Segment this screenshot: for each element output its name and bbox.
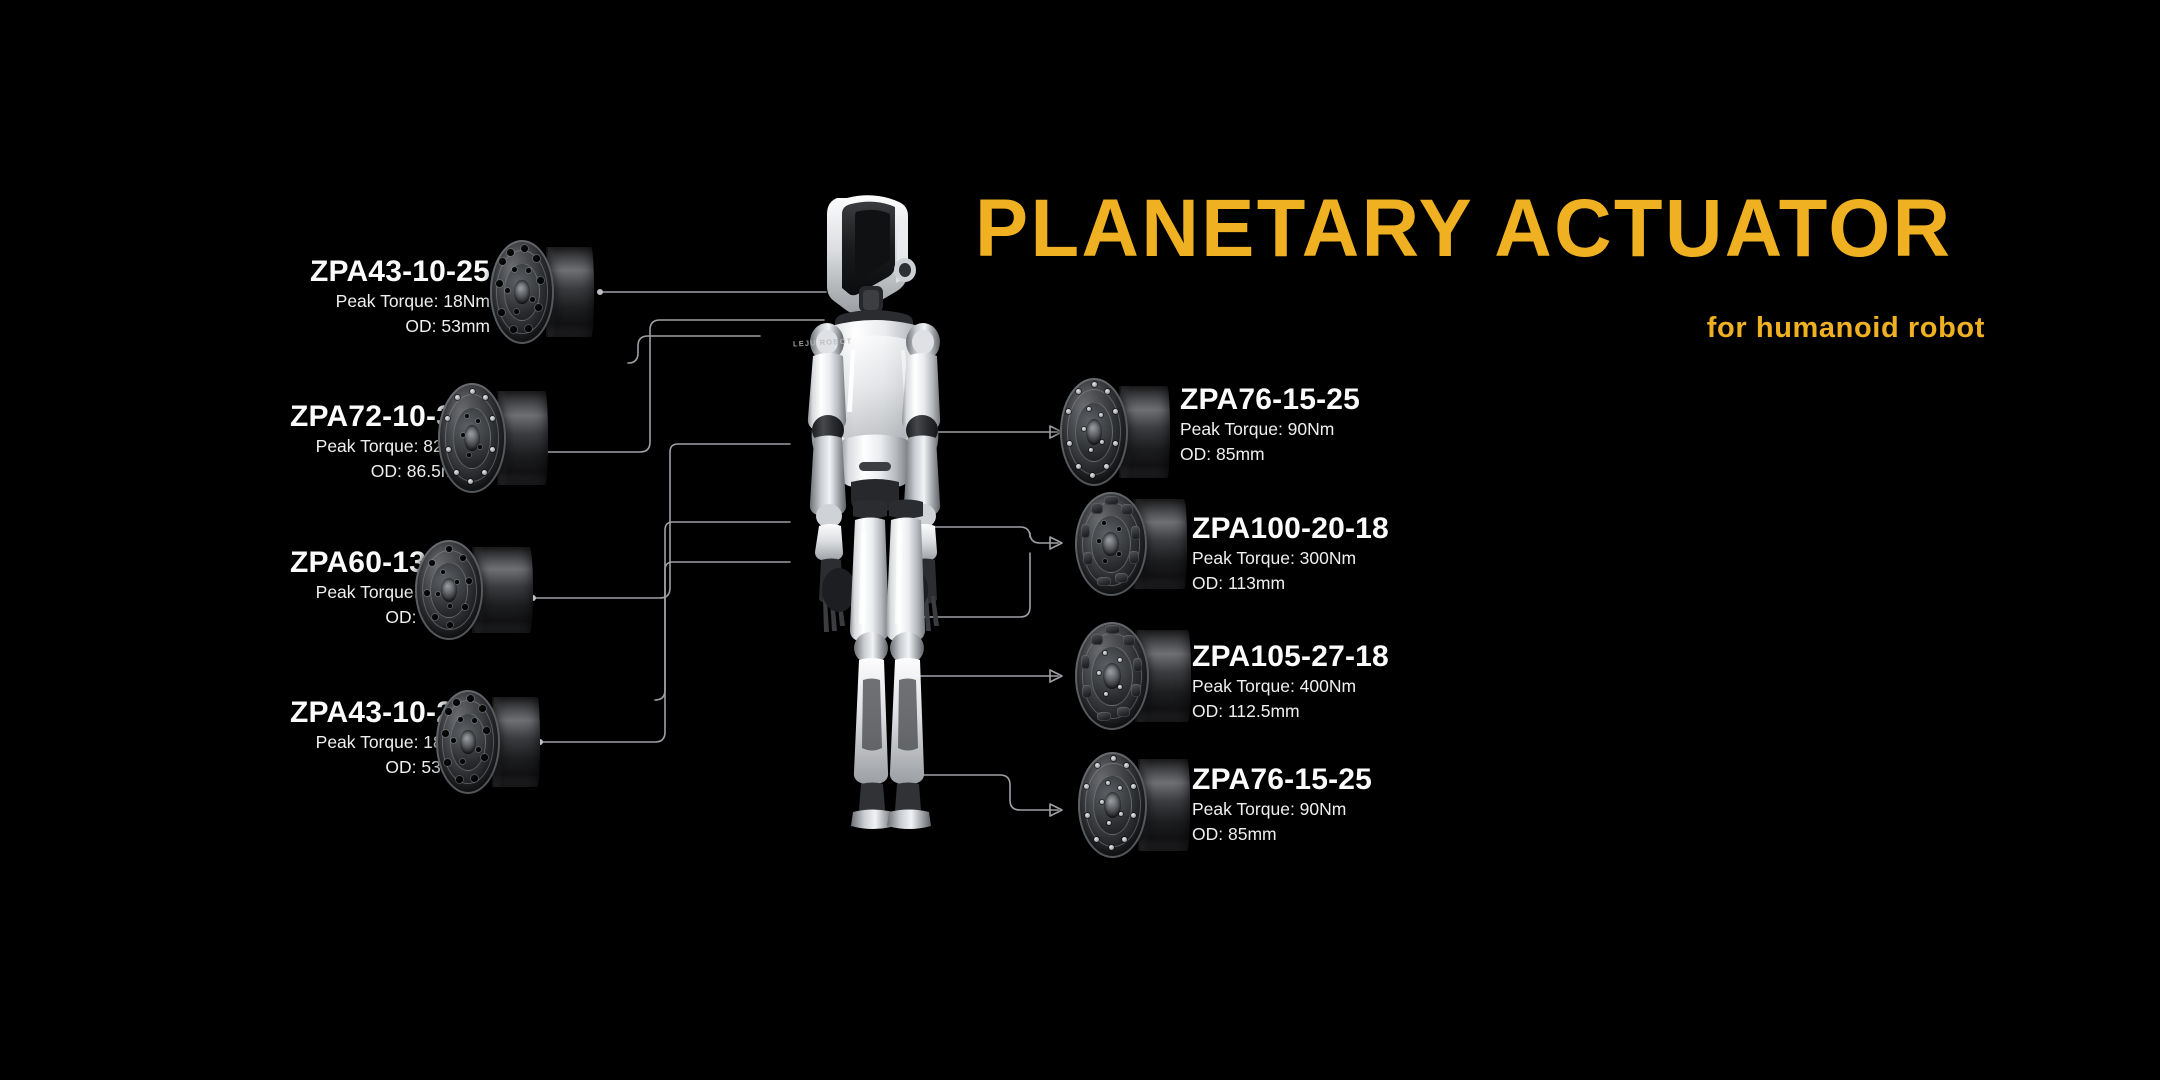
humanoid-robot-figure: LEJU ROBOT bbox=[735, 190, 1015, 910]
callout-peak-torque: Peak Torque: 18Nm bbox=[190, 289, 490, 314]
callout-hip-actuator: ZPA100-20-18 Peak Torque: 300Nm OD: 113m… bbox=[1192, 512, 1572, 596]
callout-outer-diameter: OD: 85mm bbox=[1192, 822, 1572, 847]
title-block: PLANETARY ACTUATOR for humanoid robot bbox=[975, 186, 1985, 272]
callout-outer-diameter: OD: 86.5mm bbox=[150, 459, 470, 484]
leader-ankle-arrow bbox=[1050, 804, 1062, 816]
robot-head bbox=[827, 195, 916, 313]
callout-model: ZPA43-10-25 bbox=[190, 255, 490, 289]
callout-peak-torque: Peak Torque: 300Nm bbox=[1192, 546, 1572, 571]
robot-illustration bbox=[735, 190, 1015, 910]
leader-head-endpoint bbox=[597, 289, 603, 295]
callout-peak-torque: Peak Torque: 90Nm bbox=[1192, 797, 1572, 822]
page-title: PLANETARY ACTUATOR bbox=[975, 186, 1955, 272]
callout-outer-diameter: OD: 53mm bbox=[190, 314, 490, 339]
callout-model: ZPA105-27-18 bbox=[1192, 640, 1572, 674]
callout-outer-diameter: OD: 85mm bbox=[1180, 442, 1540, 467]
actuator-image-shoulder-pitch bbox=[1060, 378, 1170, 486]
callout-peak-torque: Peak Torque: 18Nm bbox=[160, 730, 470, 755]
callout-model: ZPA100-20-18 bbox=[1192, 512, 1572, 546]
callout-model: ZPA43-10-25 bbox=[160, 696, 470, 730]
actuator-face bbox=[438, 383, 506, 493]
actuator-face bbox=[1075, 622, 1149, 730]
robot-legs bbox=[850, 500, 931, 830]
leader-hip-arrow bbox=[1050, 537, 1062, 549]
callout-shoulder-pitch-actuator: ZPA76-15-25 Peak Torque: 90Nm OD: 85mm bbox=[1180, 383, 1540, 467]
callout-outer-diameter: OD: 112.5mm bbox=[1192, 699, 1572, 724]
actuator-image-wrist bbox=[436, 690, 540, 794]
callout-model: ZPA72-10-36 bbox=[150, 400, 470, 434]
actuator-image-head bbox=[490, 240, 594, 344]
actuator-image-knee bbox=[1075, 622, 1191, 730]
actuator-face bbox=[490, 240, 554, 344]
callout-peak-torque: Peak Torque: 82Nm bbox=[150, 434, 470, 459]
actuator-face bbox=[1060, 378, 1128, 486]
callout-peak-torque: Peak Torque: 90Nm bbox=[1180, 417, 1540, 442]
actuator-image-elbow bbox=[415, 540, 533, 640]
callout-model: ZPA76-15-25 bbox=[1180, 383, 1540, 417]
callout-head-actuator: ZPA43-10-25 Peak Torque: 18Nm OD: 53mm bbox=[190, 255, 490, 339]
actuator-face bbox=[1075, 492, 1147, 596]
actuator-face bbox=[436, 690, 500, 794]
callout-outer-diameter: OD: 53mm bbox=[160, 755, 470, 780]
callout-model: ZPA76-15-25 bbox=[1192, 763, 1572, 797]
actuator-face bbox=[1078, 752, 1147, 858]
leader-knee-arrow bbox=[1050, 670, 1062, 682]
callout-shoulder-actuator: ZPA72-10-36 Peak Torque: 82Nm OD: 86.5mm bbox=[150, 400, 470, 484]
actuator-image-ankle bbox=[1078, 752, 1190, 858]
callout-peak-torque: Peak Torque: 400Nm bbox=[1192, 674, 1572, 699]
callout-wrist-actuator: ZPA43-10-25 Peak Torque: 18Nm OD: 53mm bbox=[160, 696, 470, 780]
actuator-image-hip bbox=[1075, 492, 1187, 596]
page-subtitle: for humanoid robot bbox=[1707, 312, 1985, 345]
callout-knee-actuator: ZPA105-27-18 Peak Torque: 400Nm OD: 112.… bbox=[1192, 640, 1572, 724]
callout-ankle-actuator: ZPA76-15-25 Peak Torque: 90Nm OD: 85mm bbox=[1192, 763, 1572, 847]
callout-outer-diameter: OD: 113mm bbox=[1192, 571, 1572, 596]
actuator-face bbox=[415, 540, 483, 640]
actuator-image-shoulder bbox=[438, 383, 548, 493]
poster-canvas: LEJU ROBOT ZPA43-10-25 Peak Torque: 18Nm… bbox=[0, 0, 2160, 1080]
hip-disc-left bbox=[822, 568, 856, 612]
